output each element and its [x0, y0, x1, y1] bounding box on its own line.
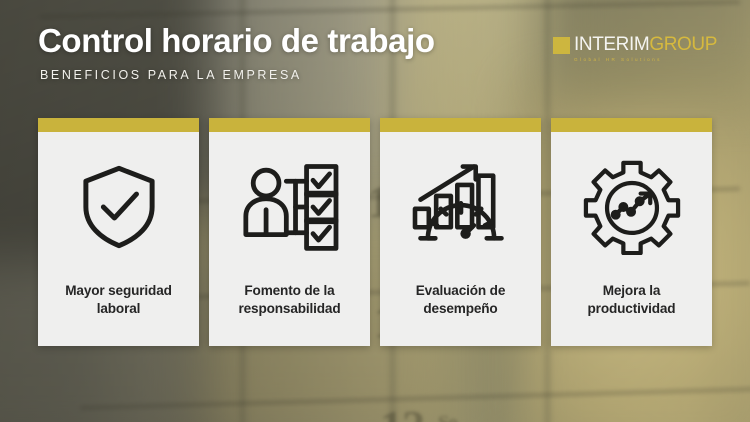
logo-name-primary: INTERIM	[574, 34, 649, 56]
infographic-slide: 10 11 12 So Control horario de trabajo B…	[0, 0, 750, 422]
logo-wordmark: INTERIMGROUP	[574, 34, 717, 56]
logo-tagline: Global HR Solutions	[574, 57, 662, 62]
benefit-card: Evaluación de desempeño	[380, 118, 541, 346]
card-accent-bar	[551, 118, 712, 132]
card-accent-bar	[209, 118, 370, 132]
person-checklist-icon	[238, 132, 342, 282]
brand-logo: INTERIMGROUP Global HR Solutions	[553, 34, 717, 62]
shield-check-icon	[73, 132, 165, 282]
logo-name-secondary: GROUP	[649, 34, 717, 56]
bar-chart-gauge-icon	[408, 132, 514, 282]
benefit-card-list: Mayor seguridad laboral	[38, 118, 712, 346]
card-label: Evaluación de desempeño	[380, 282, 541, 318]
logo-row: INTERIMGROUP	[553, 34, 717, 56]
interim-group-striped-square-icon	[553, 37, 570, 54]
card-accent-bar	[38, 118, 199, 132]
card-label: Fomento de la responsabilidad	[209, 282, 370, 318]
page-subtitle: BENEFICIOS PARA LA EMPRESA	[40, 68, 712, 82]
benefit-card: Fomento de la responsabilidad	[209, 118, 370, 346]
card-accent-bar	[380, 118, 541, 132]
benefit-card: Mayor seguridad laboral	[38, 118, 199, 346]
card-label: Mejora la productividad	[551, 282, 712, 318]
card-label: Mayor seguridad laboral	[38, 282, 199, 318]
benefit-card: Mejora la productividad	[551, 118, 712, 346]
gear-growth-chart-icon	[582, 132, 682, 282]
